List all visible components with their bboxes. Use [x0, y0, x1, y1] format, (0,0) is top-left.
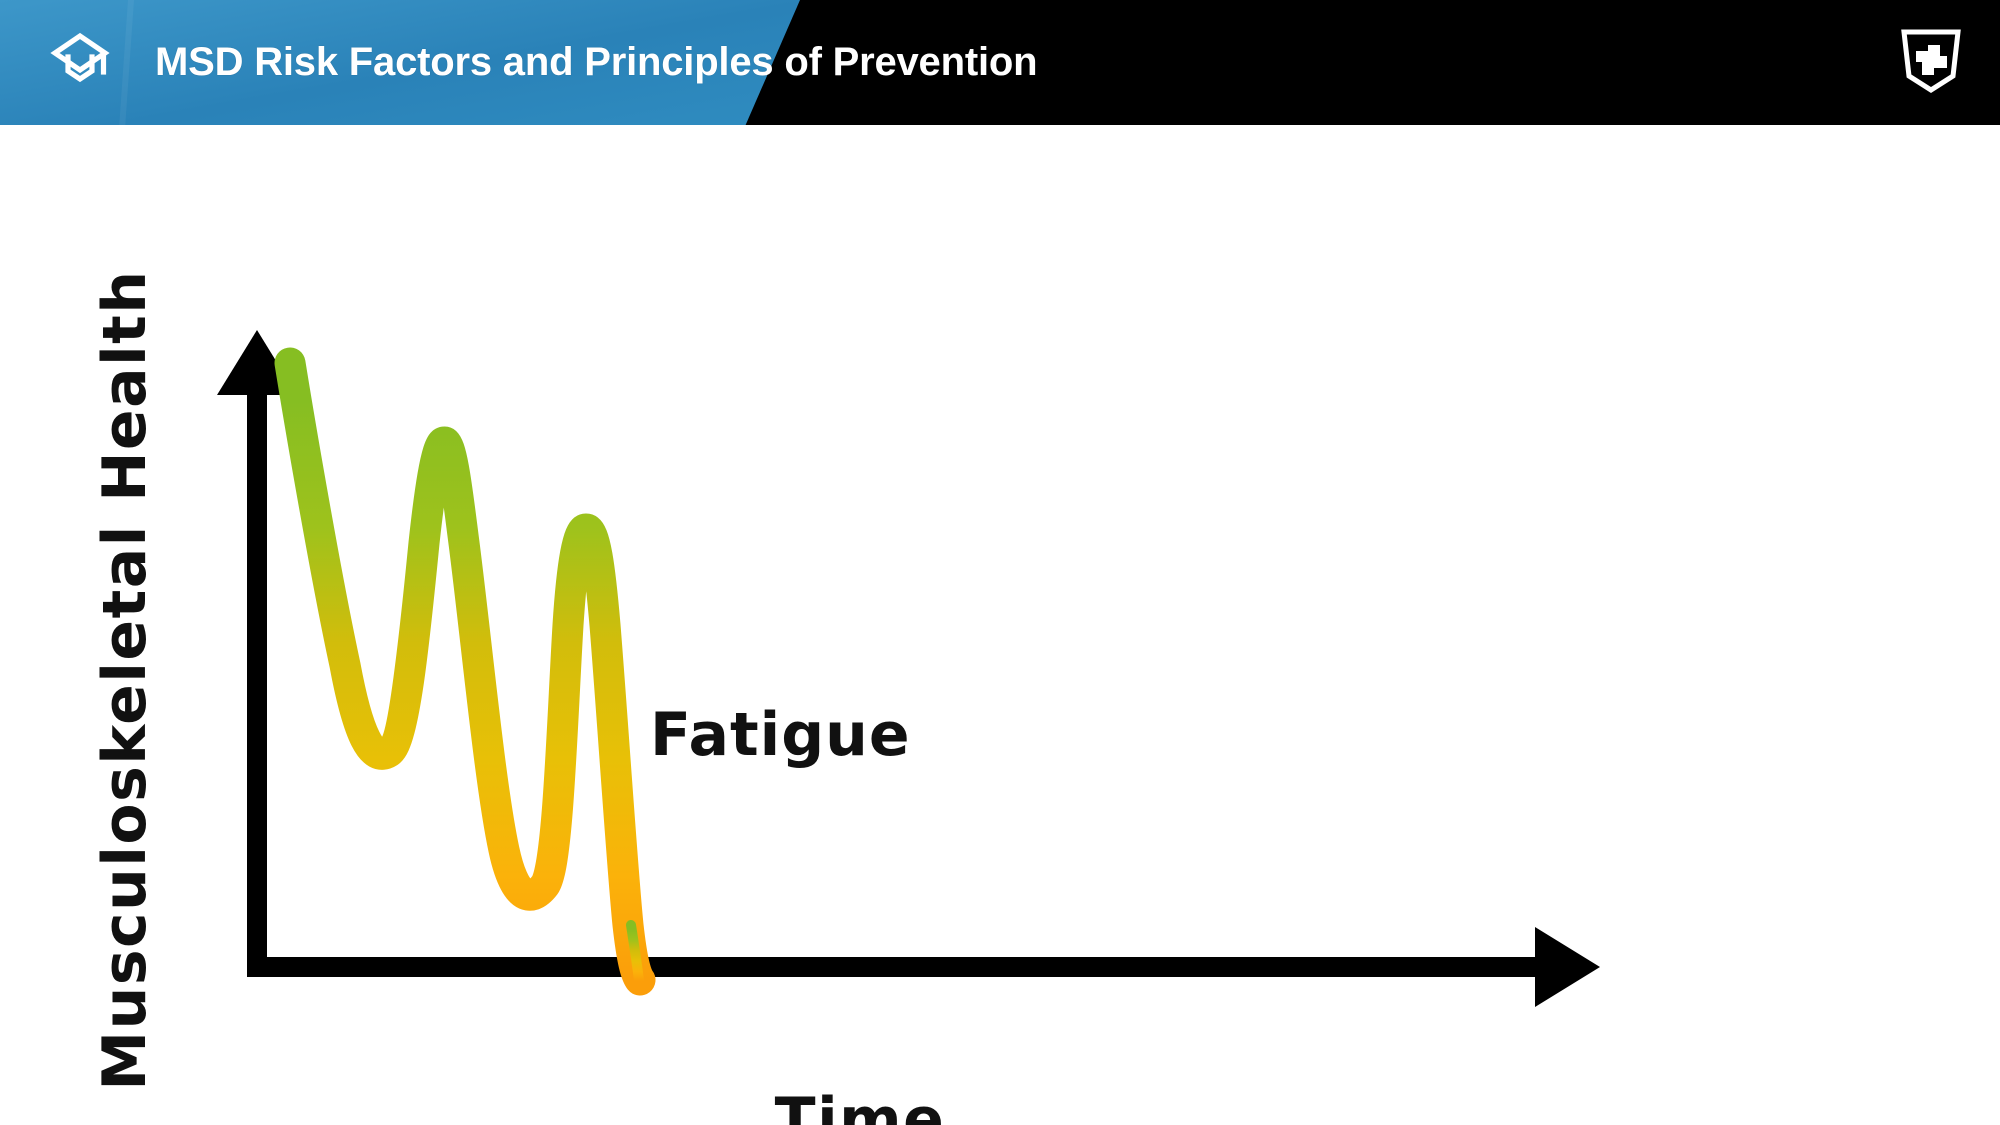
x-axis [247, 927, 1600, 1007]
header-accent-seam [119, 0, 134, 125]
fatigue-annotation-label: Fatigue [650, 705, 911, 765]
y-axis-label-text: Musculoskeletal Health [95, 269, 155, 1090]
graduation-cap-icon [45, 26, 115, 96]
shield-plus-icon [1900, 28, 1962, 94]
slide-root: MSD Risk Factors and Principles of Preve… [0, 0, 2000, 1125]
page-title: MSD Risk Factors and Principles of Preve… [155, 0, 1037, 125]
y-axis-label: Musculoskeletal Health [60, 300, 190, 1060]
health-decline-curve [290, 363, 640, 981]
chart-canvas: Musculoskeletal Health Time Fatigue [0, 125, 2000, 1125]
msd-health-decline-line-chart [0, 125, 2000, 1125]
x-axis-label-text: Time [700, 1090, 1020, 1125]
slide-header: MSD Risk Factors and Principles of Preve… [0, 0, 2000, 125]
